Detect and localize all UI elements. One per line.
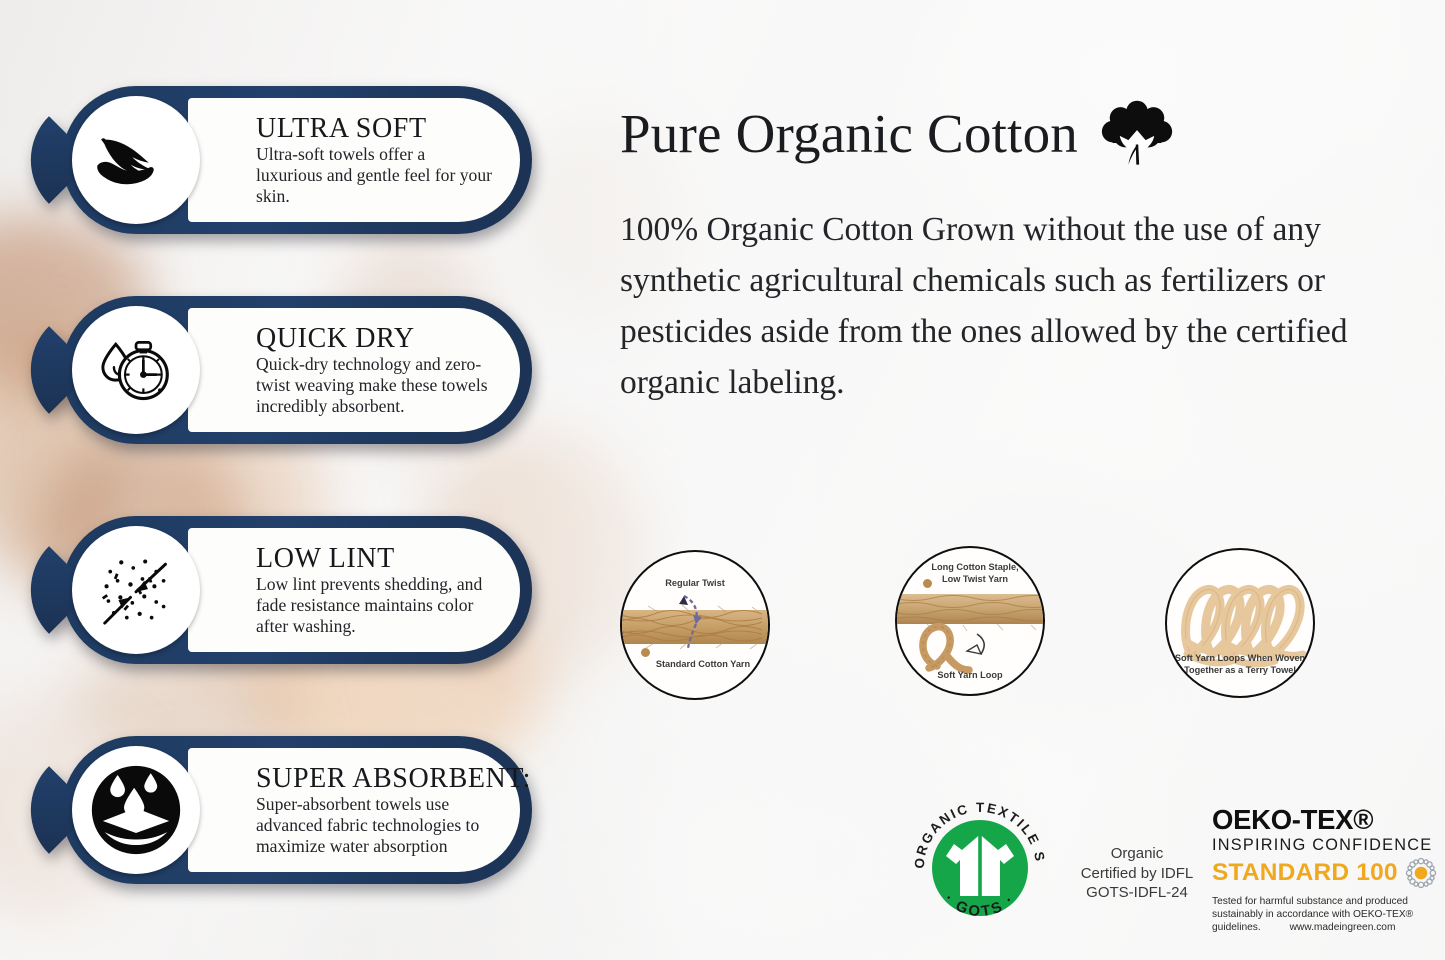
yarn-label-bottom: Soft Yarn Loops When Woven Together as a… — [1167, 653, 1313, 677]
feature-badge-low-lint: LOW LINT Low lint prevents shedding, and… — [62, 516, 532, 664]
yarn-label-top: Regular Twist — [622, 578, 768, 590]
yarn-bullet-dot — [923, 579, 932, 588]
gots-caption: Organic Certified by IDFL GOTS-IDFL-24 — [1062, 844, 1212, 903]
badge-description: Low lint prevents shedding, and fade res… — [256, 574, 494, 637]
gots-logo: GLOBAL ORGANIC TEXTILE STANDARD · GOTS · — [904, 792, 1056, 944]
twisted-yarn-strand-icon — [622, 552, 770, 700]
oeko-tex-fine-print-line-2: sustainably in accordance with OEKO-TEX® — [1212, 908, 1442, 921]
oeko-tex-fine-print-line-1: Tested for harmful substance and produce… — [1212, 895, 1442, 908]
oeko-tex-sun-icon — [1404, 856, 1438, 890]
gots-caption-line-1: Organic — [1062, 844, 1212, 864]
hero-headline-row: Pure Organic Cotton — [620, 100, 1174, 166]
oeko-tex-fine-print-line-3-row: guidelines. www.madeingreen.com — [1212, 921, 1442, 934]
badge-title: LOW LINT — [256, 545, 494, 574]
oeko-tex-fine-print-line-3: guidelines. — [1212, 922, 1261, 933]
oeko-tex-subtitle: INSPIRING CONFIDENCE — [1212, 837, 1440, 853]
gots-caption-line-3: GOTS-IDFL-24 — [1062, 883, 1212, 903]
oeko-tex-title: OEKO-TEX® — [1212, 806, 1440, 834]
feature-badge-list: ULTRA SOFT Ultra-soft towels offer a lux… — [0, 0, 560, 960]
oeko-tex-url: www.madeingreen.com — [1290, 921, 1396, 934]
certification-row: GLOBAL ORGANIC TEXTILE STANDARD · GOTS ·… — [612, 782, 1445, 960]
yarn-bullet-dot — [641, 648, 650, 657]
yarn-diagram-low-twist: Long Cotton Staple, Low Twist Yarn Soft … — [895, 546, 1045, 696]
water-drops-absorbing-fabric-icon — [72, 746, 200, 874]
badge-text-panel: QUICK DRY Quick-dry technology and zero-… — [188, 308, 520, 432]
badge-description: Ultra-soft towels offer a luxurious and … — [256, 144, 494, 207]
hero-body-text: 100% Organic Cotton Grown without the us… — [620, 205, 1420, 409]
yarn-label-top: Long Cotton Staple, Low Twist Yarn — [897, 562, 1043, 586]
yarn-diagram-regular-twist: Regular Twist Standard Cotton Yarn — [620, 550, 770, 700]
feature-badge-ultra-soft: ULTRA SOFT Ultra-soft towels offer a lux… — [62, 86, 532, 234]
water-drop-stopwatch-icon — [72, 306, 200, 434]
badge-title: QUICK DRY — [256, 325, 494, 354]
badge-text-panel: ULTRA SOFT Ultra-soft towels offer a lux… — [188, 98, 520, 222]
badge-title: ULTRA SOFT — [256, 115, 494, 144]
cotton-boll-icon — [1100, 100, 1174, 166]
feature-badge-quick-dry: QUICK DRY Quick-dry technology and zero-… — [62, 296, 532, 444]
feature-badge-super-absorbent: SUPER ABSORBENT: Super-absorbent towels … — [62, 736, 532, 884]
oeko-tex-fine-print: Tested for harmful substance and produce… — [1212, 895, 1442, 935]
yarn-diagram-row: Regular Twist Standard Cotton Yarn — [612, 540, 1445, 730]
badge-description: Quick-dry technology and zero-twist weav… — [256, 354, 494, 417]
oeko-tex-logo: OEKO-TEX® INSPIRING CONFIDENCE STANDARD … — [1212, 806, 1440, 935]
oeko-tex-standard-row: STANDARD 100 — [1212, 856, 1440, 890]
page-title: Pure Organic Cotton — [620, 106, 1078, 161]
gots-caption-line-2: Certified by IDFL — [1062, 864, 1212, 884]
badge-description: Super-absorbent towels use advanced fabr… — [256, 794, 494, 857]
infographic-canvas: ULTRA SOFT Ultra-soft towels offer a lux… — [0, 0, 1445, 960]
badge-text-panel: SUPER ABSORBENT: Super-absorbent towels … — [188, 748, 520, 872]
badge-title: SUPER ABSORBENT: — [256, 765, 494, 794]
feather-in-hand-icon — [72, 96, 200, 224]
yarn-label-bottom: Standard Cotton Yarn — [622, 659, 768, 671]
badge-text-panel: LOW LINT Low lint prevents shedding, and… — [188, 528, 520, 652]
yarn-label-bottom: Soft Yarn Loop — [897, 670, 1043, 682]
yarn-diagram-terry-loops: Soft Yarn Loops When Woven Together as a… — [1165, 548, 1315, 698]
oeko-tex-standard: STANDARD 100 — [1212, 861, 1398, 886]
right-column: Pure Organic Cotton 100% Organic — [612, 0, 1445, 960]
lint-particles-arrows-icon — [72, 526, 200, 654]
